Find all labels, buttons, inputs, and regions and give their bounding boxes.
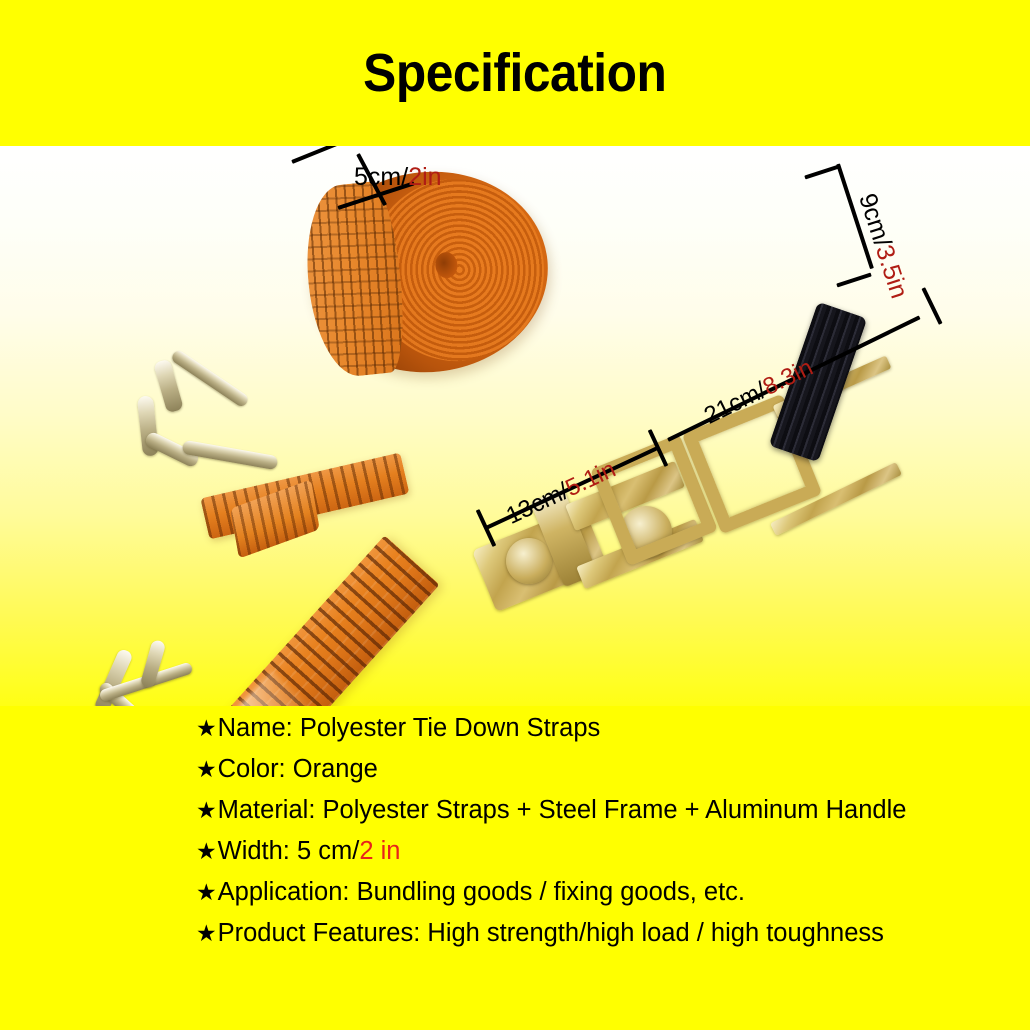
star-bullet-icon: ★	[196, 922, 217, 945]
spec-item-name-text: Name: Polyester Tie Down Straps	[218, 716, 601, 742]
spec-item-width: ★ Width: 5 cm/2 in	[196, 839, 1016, 865]
spec-label-name: Name:	[218, 714, 293, 742]
hook-lower	[88, 636, 218, 706]
spec-label-application: Application:	[218, 878, 350, 906]
ratchet-gear-left	[506, 538, 552, 584]
star-bullet-icon: ★	[196, 799, 217, 822]
page-title: Specification	[363, 46, 666, 100]
spec-value-material: Polyester Straps + Steel Frame + Aluminu…	[323, 796, 907, 824]
spec-label-material: Material:	[218, 796, 316, 824]
spec-item-name: ★ Name: Polyester Tie Down Straps	[196, 716, 1016, 742]
spec-value-application: Bundling goods / fixing goods, etc.	[357, 878, 745, 906]
spec-item-application-text: Application: Bundling goods / fixing goo…	[218, 880, 745, 906]
hook-upper	[138, 358, 298, 488]
dimension-label-handle-length: 9cm/3.5in	[852, 190, 913, 302]
spec-item-material-text: Material: Polyester Straps + Steel Frame…	[218, 798, 907, 824]
specification-page: Specification	[0, 0, 1030, 1030]
product-photo-stage: 5cm/2in 9cm/3.5in 13cm/5.1in	[0, 146, 1030, 706]
spec-item-color-text: Color: Orange	[218, 757, 378, 783]
spec-item-width-text: Width: 5 cm/2 in	[218, 839, 401, 865]
spec-value-width-imperial: 2 in	[359, 837, 400, 865]
spec-label-width: Width:	[218, 837, 290, 865]
spec-value-color: Orange	[293, 755, 378, 783]
strap-roll	[300, 160, 558, 384]
spec-label-product-features: Product Features:	[218, 919, 421, 947]
spec-item-material: ★ Material: Polyester Straps + Steel Fra…	[196, 798, 1016, 824]
product-photo: 5cm/2in 9cm/3.5in 13cm/5.1in	[0, 146, 1030, 706]
spec-item-product-features-text: Product Features: High strength/high loa…	[218, 921, 884, 947]
spec-item-product-features: ★ Product Features: High strength/high l…	[196, 921, 1016, 947]
spec-item-application: ★ Application: Bundling goods / fixing g…	[196, 880, 1016, 906]
star-bullet-icon: ★	[196, 758, 217, 781]
star-bullet-icon: ★	[196, 881, 217, 904]
spec-item-color: ★ Color: Orange	[196, 757, 1016, 783]
star-bullet-icon: ★	[196, 717, 217, 740]
spec-value-name: Polyester Tie Down Straps	[300, 714, 600, 742]
specification-list: ★ Name: Polyester Tie Down Straps ★ Colo…	[196, 716, 1016, 962]
spec-value-product-features: High strength/high load / high toughness	[427, 919, 884, 947]
strap-sheen	[202, 670, 318, 706]
header-banner: Specification	[0, 0, 1030, 146]
dimension-label-strap-width: 5cm/2in	[354, 163, 442, 192]
spec-value-width: 5 cm/	[297, 837, 359, 865]
star-bullet-icon: ★	[196, 840, 217, 863]
spec-label-color: Color:	[218, 755, 286, 783]
